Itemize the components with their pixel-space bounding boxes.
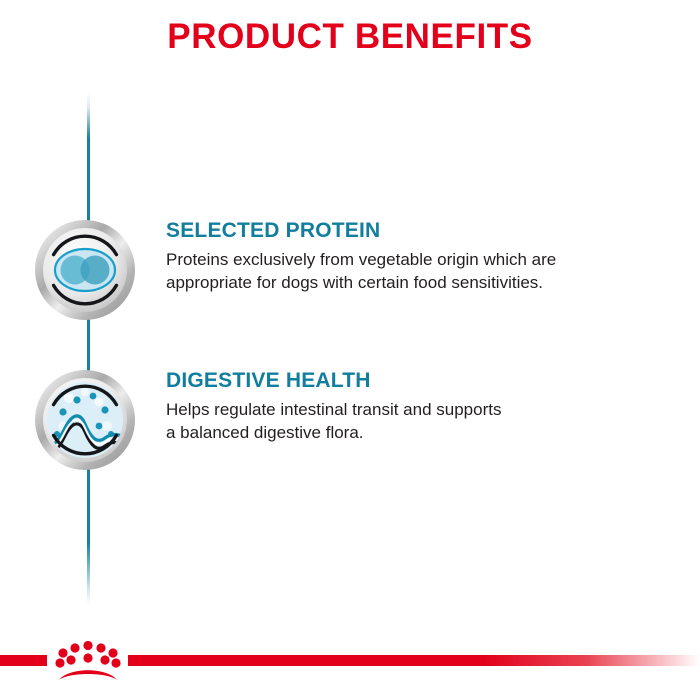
benefit-body-line: Helps regulate intestinal transit and su… <box>166 398 661 421</box>
benefit-body-line: appropriate for dogs with certain food s… <box>166 271 661 294</box>
benefit-heading: SELECTED PROTEIN <box>166 218 666 243</box>
benefit-body-line: a balanced digestive flora. <box>166 421 661 444</box>
royal-canin-crown-logo <box>47 634 129 690</box>
benefit-body: Proteins exclusively from vegetable orig… <box>166 248 661 294</box>
product-benefits-page: PRODUCT BENEFITS <box>0 0 700 700</box>
page-title: PRODUCT BENEFITS <box>0 16 700 58</box>
selected-protein-icon <box>33 218 137 322</box>
benefit-text-block: SELECTED PROTEIN Proteins exclusively fr… <box>166 218 666 294</box>
benefit-text-block: DIGESTIVE HEALTH Helps regulate intestin… <box>166 368 666 444</box>
red-rule-bar-right <box>128 655 700 666</box>
benefit-heading: DIGESTIVE HEALTH <box>166 368 666 393</box>
benefit-body-line: Proteins exclusively from vegetable orig… <box>166 248 661 271</box>
footer <box>0 628 700 700</box>
benefit-body: Helps regulate intestinal transit and su… <box>166 398 661 444</box>
vertical-connector-line <box>87 92 90 604</box>
digestive-health-icon <box>33 368 137 472</box>
red-rule-bar-left <box>0 655 47 666</box>
